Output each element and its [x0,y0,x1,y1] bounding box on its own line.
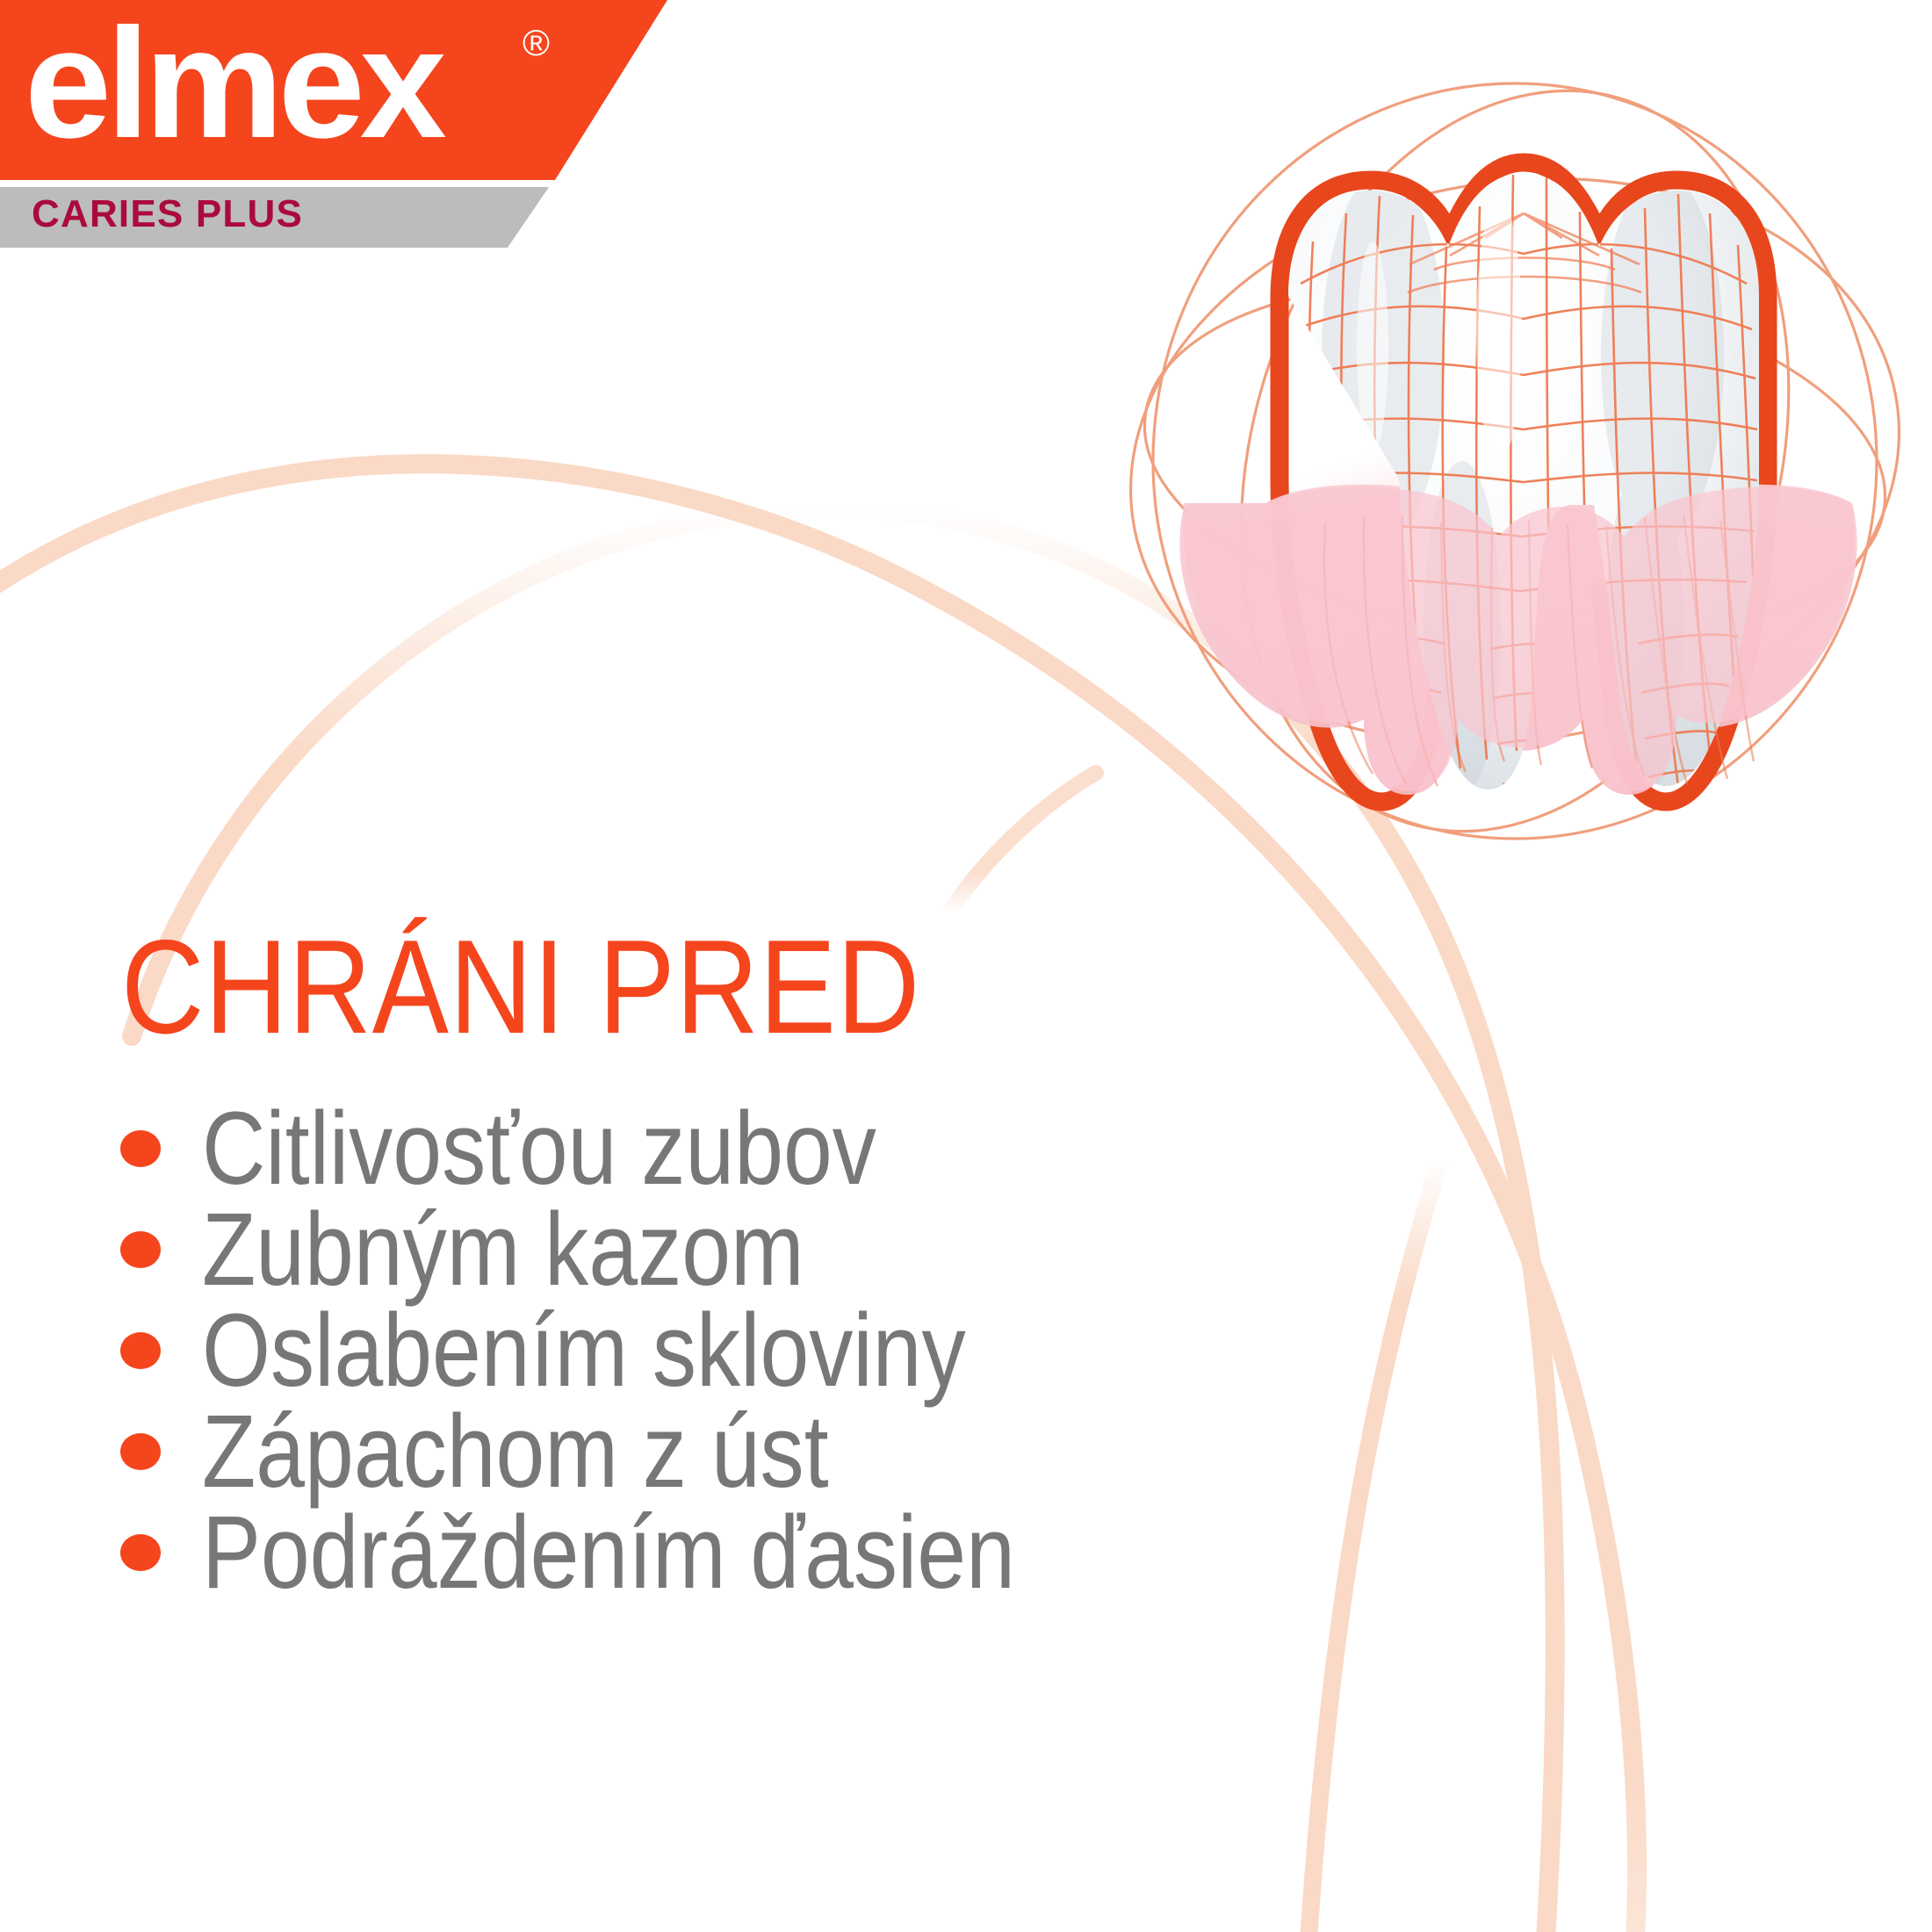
bullet-dot-icon [120,1231,161,1268]
list-item-label: Zubným kazom [202,1198,804,1301]
protected-tooth-illustration [1093,66,1932,856]
root-wireframe-mesh [1324,514,1754,786]
page-headline: CHRÁNI PRED [121,920,920,1054]
list-item-label: Zápachom z úst [202,1400,829,1503]
bullet-dot-icon [120,1332,161,1369]
list-item-label: Podráždením ďasien [202,1501,1015,1604]
benefits-list: Citlivosťou zubov Zubným kazom Oslabením… [110,1098,1427,1603]
gum-glow [1230,435,1810,681]
list-item-label: Citlivosťou zubov [202,1097,876,1200]
sub-brand-label: CARIES PLUS [32,195,303,234]
gum-front-face [1183,487,1854,791]
list-item: Podráždením ďasien [110,1502,1427,1603]
poster-canvas: elmex ® CARIES PLUS CHRÁNI PRED Citlivos… [0,0,1932,1932]
bullet-dot-icon [120,1433,161,1470]
registered-trademark-icon: ® [523,25,550,61]
protection-shield-outline-left [1280,298,1446,802]
list-item: Citlivosťou zubov [110,1098,1427,1199]
enamel-highlights [1357,198,1522,461]
orbit-rings [1093,66,1932,856]
elmex-logo-wordmark: elmex [25,5,442,162]
tooth-body [1288,162,1759,795]
gum-tissue [1179,485,1856,795]
list-item: Zápachom z úst [110,1401,1427,1502]
list-item: Zubným kazom [110,1199,1427,1300]
list-item-label: Oslabením skloviny [202,1299,966,1402]
tooth-wireframe-mesh [1292,175,1761,786]
protection-shield-outline [1280,162,1768,802]
bullet-dot-icon [120,1130,161,1167]
bullet-dot-icon [120,1534,161,1571]
list-item: Oslabením skloviny [110,1300,1427,1401]
swoosh-tooth-tail [948,773,1096,913]
